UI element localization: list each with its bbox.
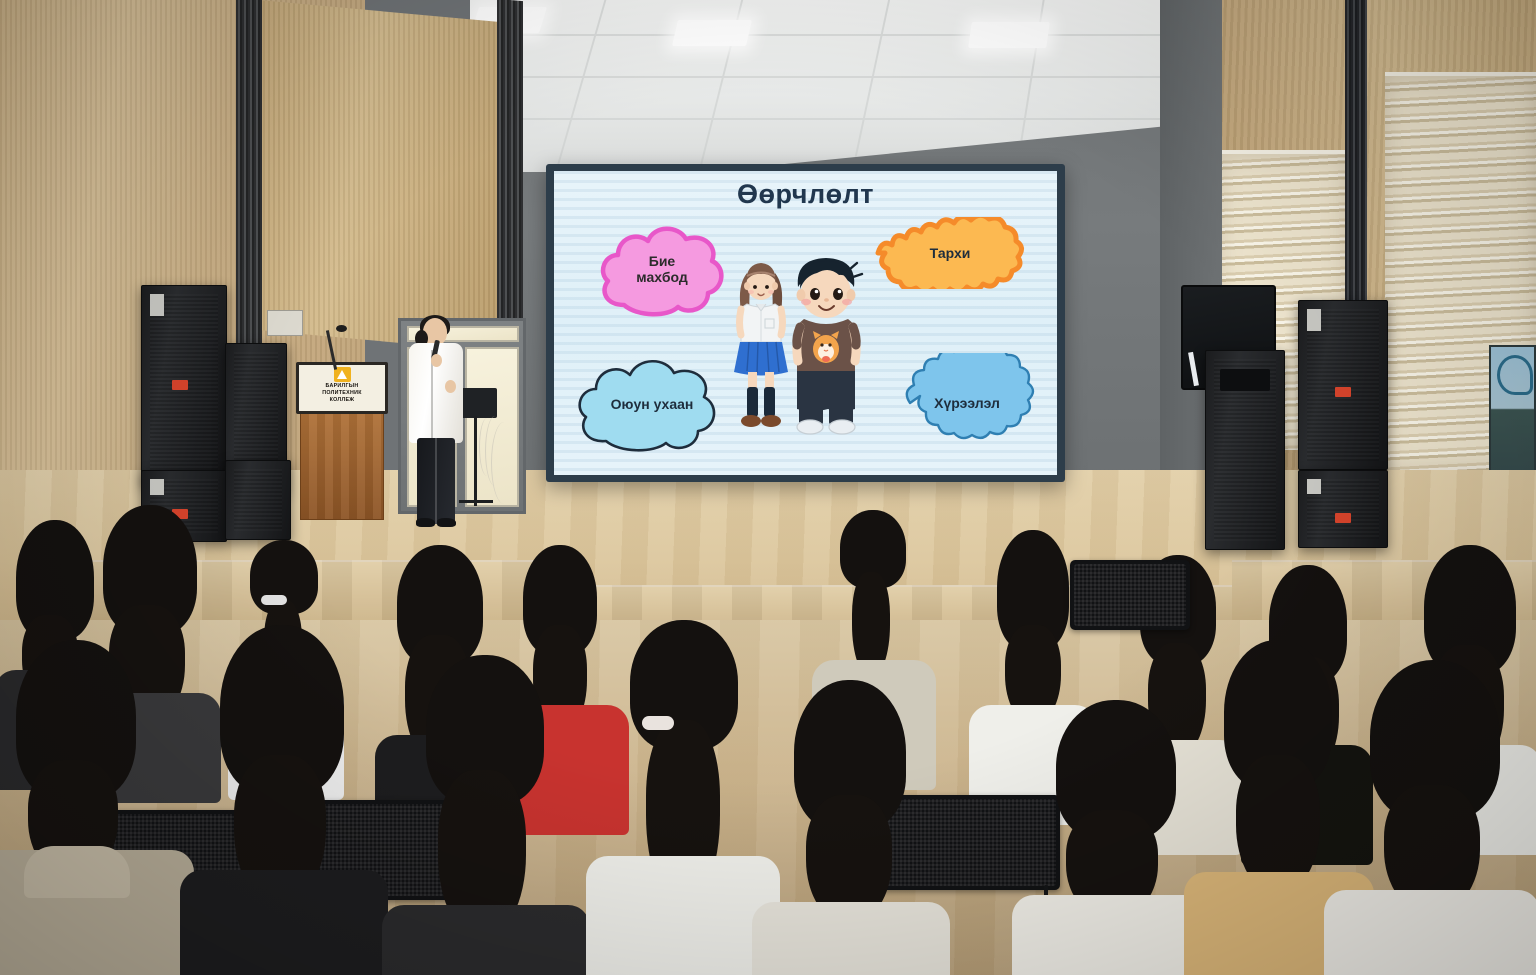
wall-slat-strip [497, 0, 523, 331]
speaker-left-tall [141, 285, 227, 485]
speaker-right-mid [1205, 350, 1285, 550]
presenter [405, 318, 467, 528]
presentation-slide: Өөрчлөлт Бие махбод Тархи [554, 171, 1057, 475]
speaker-left-bottom2 [225, 460, 291, 540]
bubble-label: Хүрээлэл [892, 353, 1042, 453]
podium-sign-line1: БАРИЛГЫН [326, 383, 359, 390]
podium-mic-head [336, 325, 347, 332]
bubble-label: Оюун ухаан [572, 351, 732, 457]
wall-vent [267, 310, 303, 336]
ceiling-light [672, 20, 752, 46]
auditorium-photo: Өөрчлөлт Бие махбод Тархи [0, 0, 1536, 975]
presenter-trousers [417, 438, 455, 524]
presenter-hand [445, 380, 456, 393]
audience-member [1020, 700, 1210, 975]
presenter-shoe [416, 518, 435, 527]
podium-sign-line3: КОЛЛЕЖ [330, 397, 355, 404]
bubble-label-line1: Бие [649, 253, 675, 269]
podium-sign-line2: ПОЛИТЕХНИК [322, 390, 362, 397]
speaker-right-bottom [1298, 470, 1388, 548]
hair-tie [642, 716, 674, 730]
cables [491, 422, 517, 504]
left-wood-wall-angled [258, 0, 508, 353]
chair [1070, 560, 1190, 630]
bubble-label-line2: махбод [636, 269, 687, 285]
ceiling-light [968, 22, 1050, 48]
presenter-hand [431, 354, 442, 367]
cat-icon [813, 331, 839, 363]
bubble-oyun-ukhaan: Оюун ухаан [572, 351, 732, 457]
audience-member [390, 655, 580, 975]
hair-tie [261, 595, 287, 605]
audience-member [0, 640, 180, 975]
bubble-label: Тархи [866, 217, 1034, 289]
bubble-bie-makhbod: Бие махбод [592, 219, 732, 319]
led-display: Өөрчлөлт Бие махбод Тархи [546, 164, 1065, 482]
bubble-khureelel: Хүрээлэл [892, 353, 1042, 453]
speaker-right-top [1298, 300, 1388, 470]
podium-sign: БАРИЛГЫН ПОЛИТЕХНИК КОЛЛЕЖ [296, 362, 388, 414]
kids-illustration [720, 249, 880, 461]
cables [479, 418, 495, 476]
girl-figure [734, 263, 788, 427]
audience-member [190, 625, 375, 975]
slide-title: Өөрчлөлт [554, 179, 1057, 210]
bubble-tarkhi: Тархи [866, 217, 1034, 289]
audience-member [760, 680, 940, 975]
hoodie-hood [24, 846, 130, 898]
boy-figure [797, 258, 863, 434]
presenter-shoe [437, 518, 456, 527]
audience-member [590, 620, 770, 975]
audience-member [1330, 660, 1536, 975]
